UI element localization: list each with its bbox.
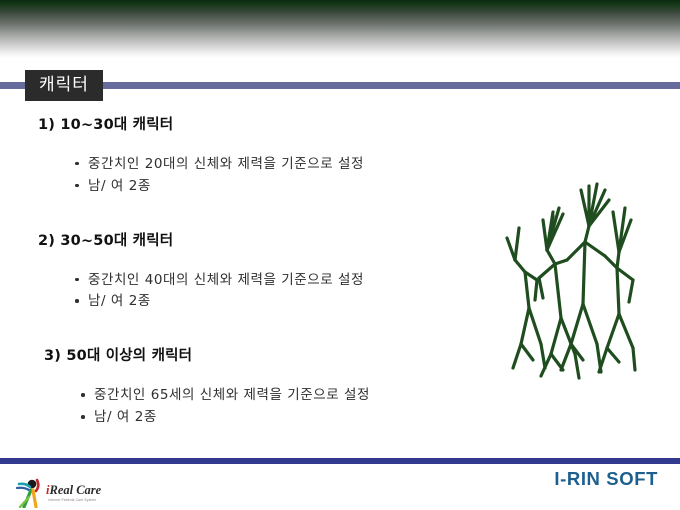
- top-gradient-band: [0, 0, 680, 58]
- bullet-dot-icon: [75, 278, 79, 282]
- bullet-text: 중간치인 20대의 신체와 제력을 기준으로 설정: [88, 156, 364, 172]
- logo-tagline: Internet Patients Care System: [48, 498, 96, 502]
- section-2: 2) 30~50대 캐릭터 중간치인 40대의 신체와 제력을 기준으로 설정 …: [0, 234, 470, 314]
- slide-content: 1) 10~30대 캐릭터 중간치인 20대의 신체와 제력을 기준으로 설정 …: [0, 118, 470, 433]
- section-1-heading: 1) 10~30대 캐릭터: [0, 118, 470, 134]
- bullet-dot-icon: [81, 393, 85, 397]
- bullet-text: 남/ 여 2종: [88, 293, 151, 309]
- stick-figures-image: [493, 168, 647, 388]
- logo-figure-icon: [15, 477, 49, 508]
- section-2-bullets: 중간치인 40대의 신체와 제력을 기준으로 설정 남/ 여 2종: [0, 270, 470, 314]
- bullet-text: 남/ 여 2종: [94, 409, 157, 425]
- logo-wordmark: iReal Care: [46, 483, 101, 498]
- bullet-text: 남/ 여 2종: [88, 178, 151, 194]
- bullet-text: 중간치인 40대의 신체와 제력을 기준으로 설정: [88, 272, 364, 288]
- slide-title: 캐릭터: [39, 77, 89, 94]
- list-item: 남/ 여 2종: [88, 291, 470, 313]
- ireal-care-logo: iReal Care Internet Patients Care System: [15, 477, 123, 508]
- list-item: 남/ 여 2종: [88, 176, 470, 198]
- list-item: 남/ 여 2종: [94, 407, 470, 429]
- bullet-text: 중간치인 65세의 신체와 제력을 기준으로 설정: [94, 387, 370, 403]
- bullet-dot-icon: [75, 299, 79, 303]
- brand-name: I-RIN SOFT: [554, 468, 658, 490]
- section-2-heading: 2) 30~50대 캐릭터: [0, 234, 470, 250]
- section-3-heading: 3) 50대 이상의 캐릭터: [0, 349, 470, 365]
- slide-title-box: 캐릭터: [25, 70, 103, 101]
- section-3-bullets: 중간치인 65세의 신체와 제력을 기준으로 설정 남/ 여 2종: [0, 385, 470, 429]
- list-item: 중간치인 65세의 신체와 제력을 기준으로 설정: [94, 385, 470, 407]
- section-1-bullets: 중간치인 20대의 신체와 제력을 기준으로 설정 남/ 여 2종: [0, 154, 470, 198]
- bullet-dot-icon: [81, 415, 85, 419]
- list-item: 중간치인 20대의 신체와 제력을 기준으로 설정: [88, 154, 470, 176]
- logo-word-rest: Real Care: [49, 483, 101, 497]
- slide: 캐릭터 1) 10~30대 캐릭터 중간치인 20대의 신체와 제력을 기준으로…: [0, 0, 680, 510]
- bullet-dot-icon: [75, 184, 79, 188]
- bullet-dot-icon: [75, 162, 79, 166]
- section-3: 3) 50대 이상의 캐릭터 중간치인 65세의 신체와 제력을 기준으로 설정…: [0, 349, 470, 429]
- list-item: 중간치인 40대의 신체와 제력을 기준으로 설정: [88, 270, 470, 292]
- section-1: 1) 10~30대 캐릭터 중간치인 20대의 신체와 제력을 기준으로 설정 …: [0, 118, 470, 198]
- footer-divider-rule: [0, 458, 680, 464]
